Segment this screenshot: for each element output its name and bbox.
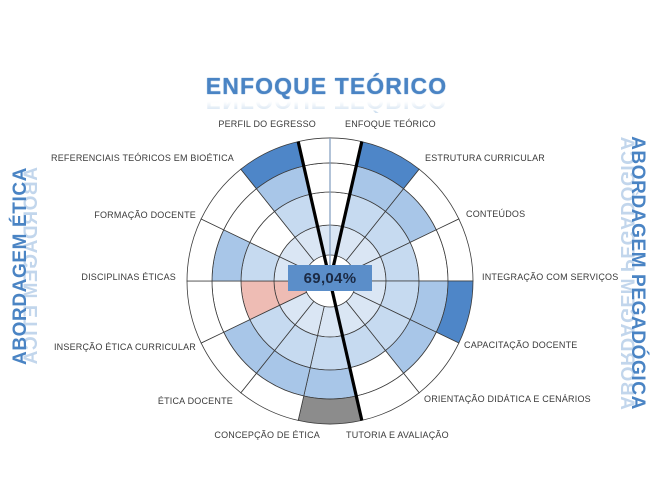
center-value-badge: 69,04% — [288, 265, 372, 291]
center-value-text: 69,04% — [304, 270, 357, 287]
sunburst-wheel — [0, 0, 653, 493]
wheel-segment — [298, 396, 362, 424]
chart-canvas: ENFOQUE TEÓRICO ENFOQUE TEÓRICO ABORDAGE… — [0, 0, 653, 493]
wheel-segment — [304, 368, 357, 399]
